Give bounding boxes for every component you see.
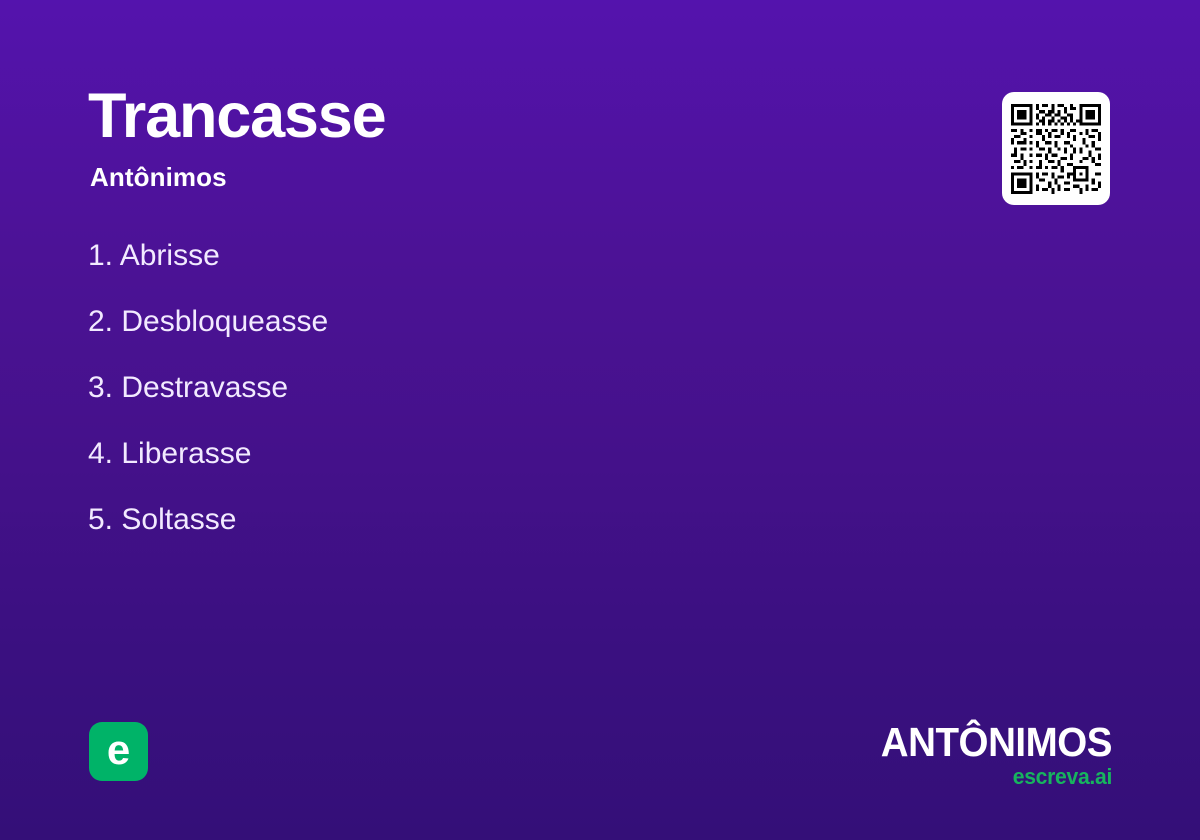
list-item-index: 4. xyxy=(88,437,113,470)
escreva-logo-mark[interactable]: e xyxy=(89,722,148,781)
list-item: 1. Abrisse xyxy=(88,236,888,276)
footer-wordmark: ANTÔNIMOS escreva.ai xyxy=(866,722,1112,788)
list-item-index: 5. xyxy=(88,503,113,536)
page-subtitle: Antônimos xyxy=(90,162,848,193)
list-item: 4. Liberasse xyxy=(88,434,888,474)
footer-wordmark-sub: escreva.ai xyxy=(876,766,1112,788)
list-item-word: Desbloqueasse xyxy=(121,305,328,338)
page-title: Trancasse xyxy=(88,85,848,148)
list-item-index: 2. xyxy=(88,305,113,338)
list-item-word: Abrisse xyxy=(120,239,220,272)
antonym-card: Trancasse Antônimos xyxy=(0,0,1200,840)
qr-code-icon xyxy=(1011,104,1101,194)
list-item: 5. Soltasse xyxy=(88,500,888,540)
escreva-logo-letter: e xyxy=(107,729,130,771)
list-item-index: 3. xyxy=(88,371,113,404)
list-item: 3. Destravasse xyxy=(88,368,888,408)
list-item-word: Liberasse xyxy=(121,437,251,470)
list-item-word: Destravasse xyxy=(121,371,288,404)
header: Trancasse Antônimos xyxy=(88,85,848,193)
footer-wordmark-main: ANTÔNIMOS xyxy=(881,722,1112,763)
qr-code-card[interactable] xyxy=(1002,92,1110,205)
list-item: 2. Desbloqueasse xyxy=(88,302,888,342)
antonyms-list: 1. Abrisse2. Desbloqueasse3. Destravasse… xyxy=(88,236,888,566)
list-item-word: Soltasse xyxy=(121,503,236,536)
list-item-index: 1. xyxy=(88,239,113,272)
